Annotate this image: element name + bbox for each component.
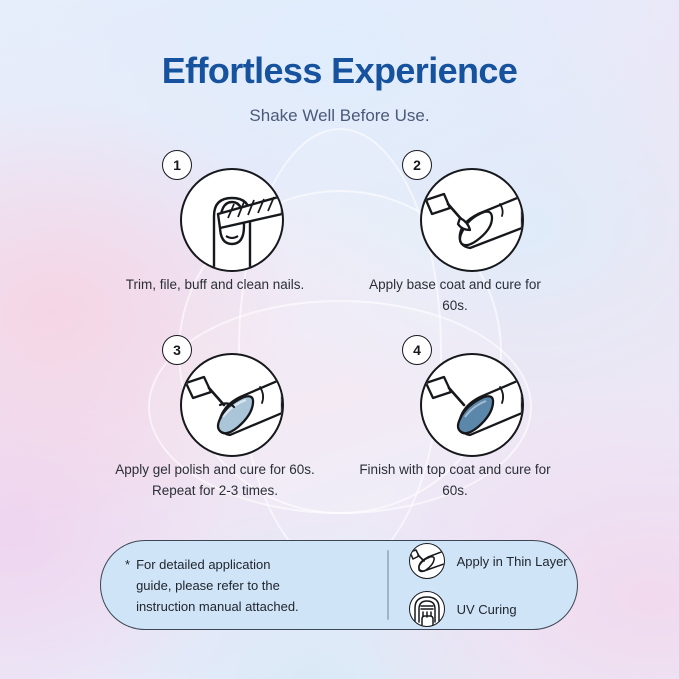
step-card-4: 4 Finish with top coat and cure for 60s. [340,335,570,501]
note-icon-item-thin-layer: Apply in Thin Layer [409,543,577,579]
step-1-illustration-wrap: 1 [100,150,330,268]
thin-layer-icon [409,543,445,579]
step-4-illustration-wrap: 4 [340,335,570,453]
step-number-badge: 1 [162,150,192,180]
step-3-caption-line-2: Repeat for 2-3 times. [100,480,330,501]
page-subtitle: Shake Well Before Use. [0,106,679,126]
step-3-caption: Apply gel polish and cure for 60s. Repea… [100,459,330,501]
step-4-caption-line-1: Finish with top coat and cure for [340,459,570,480]
note-icon-label: Apply in Thin Layer [457,554,568,569]
note-text-line-1: For detailed application [136,554,299,575]
step-3-caption-line-1: Apply gel polish and cure for 60s. [100,459,330,480]
step-2-illustration-wrap: 2 [340,150,570,268]
page-title: Effortless Experience [0,50,679,92]
gel-polish-brush-icon [180,353,284,457]
note-text-line-3: instruction manual attached. [136,596,299,617]
top-coat-brush-icon [420,353,524,457]
step-number-badge: 3 [162,335,192,365]
step-4-caption-line-2: 60s. [340,480,570,501]
step-number-badge: 2 [402,150,432,180]
note-text-lines: For detailed application guide, please r… [136,554,299,617]
note-text-block: * For detailed application guide, please… [101,554,387,617]
step-1-caption: Trim, file, buff and clean nails. [100,274,330,295]
step-card-1: 1 Trim, file, buff and clean nails. [100,150,330,295]
note-asterisk: * [125,554,130,617]
step-1-caption-line-1: Trim, file, buff and clean nails. [100,274,330,295]
step-2-caption: Apply base coat and cure for 60s. [340,274,570,316]
note-icon-label: UV Curing [457,602,517,617]
step-number-badge: 4 [402,335,432,365]
step-3-illustration-wrap: 3 [100,335,330,453]
step-2-caption-line-2: 60s. [340,295,570,316]
uv-curing-lamp-icon [409,591,445,627]
step-2-caption-line-1: Apply base coat and cure for [340,274,570,295]
step-card-3: 3 Apply gel polish and cure for 60s. Rep… [100,335,330,501]
instruction-poster: Effortless Experience Shake Well Before … [0,0,679,679]
note-text-line-2: guide, please refer to the [136,575,299,596]
note-box: * For detailed application guide, please… [100,540,578,630]
base-coat-brush-icon [420,168,524,272]
step-card-2: 2 Apply base coat and cure for 60s. [340,150,570,316]
nail-file-icon [180,168,284,272]
step-4-caption: Finish with top coat and cure for 60s. [340,459,570,501]
note-icon-item-uv-curing: UV Curing [409,591,577,627]
note-icon-list: Apply in Thin Layer [389,543,577,627]
